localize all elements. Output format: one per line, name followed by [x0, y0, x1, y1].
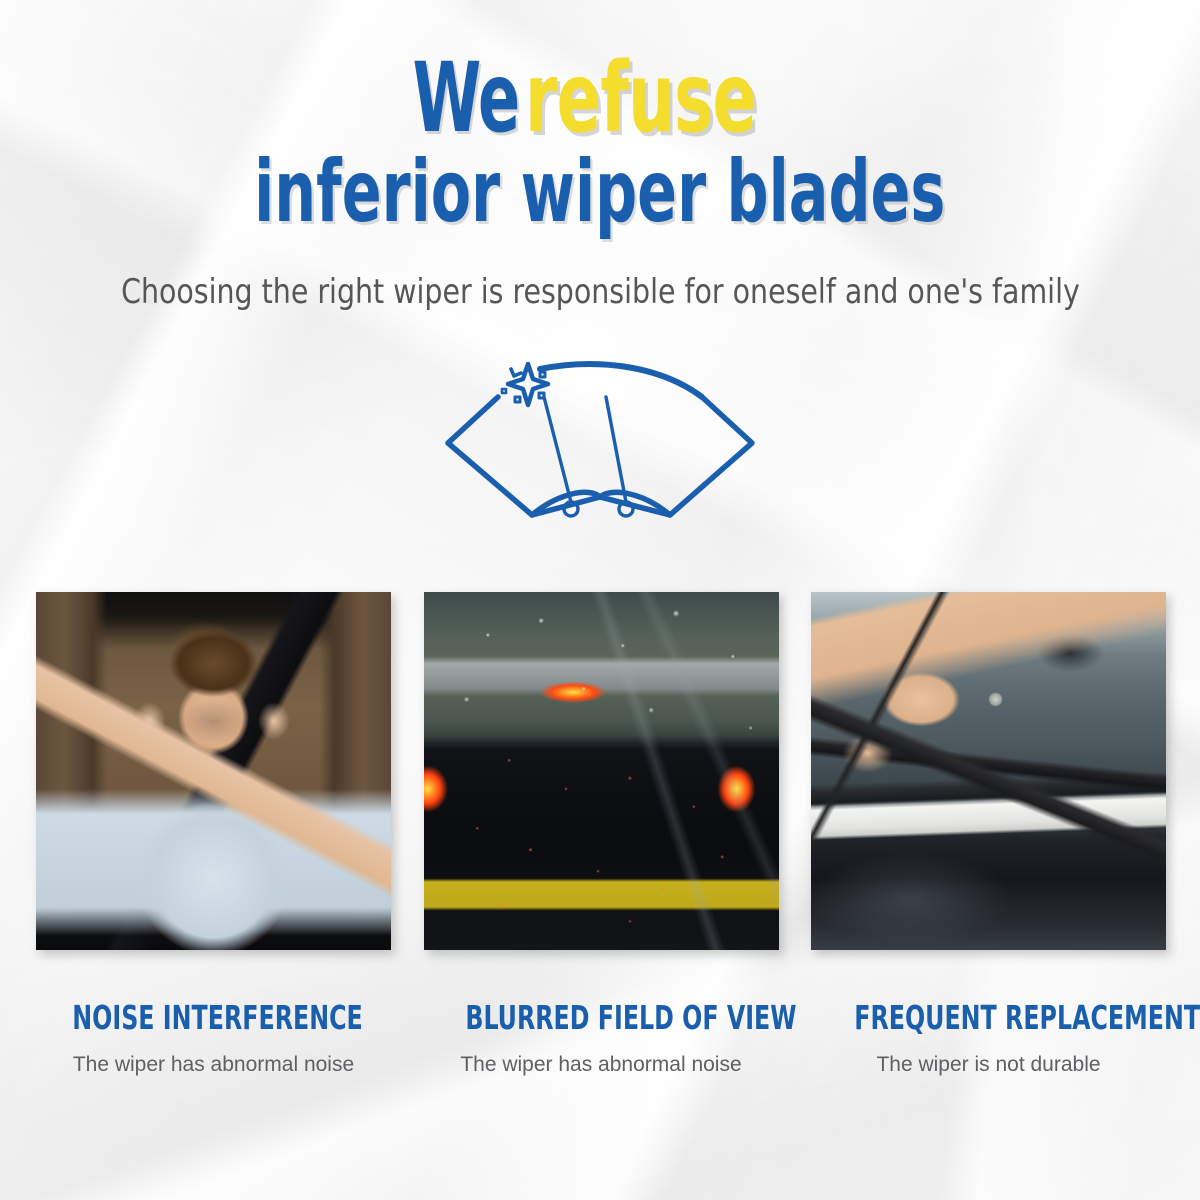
photo-blurred-field-of-view [424, 592, 779, 950]
caption-sub-noise: The wiper has abnormal noise [36, 1053, 391, 1077]
caption-sub-replacement: The wiper is not durable [811, 1053, 1166, 1077]
photo-frequent-replacement [811, 592, 1166, 950]
feature-card-replacement: FREQUENT REPLACEMENT The wiper is not du… [811, 592, 1166, 1077]
headline-refuse: refuse [525, 52, 756, 145]
promo-banner-page: Werefuse inferior wiper blades Choosing … [0, 0, 1200, 1200]
feature-cards-row: NOISE INTERFERENCE The wiper has abnorma… [36, 592, 1166, 1077]
caption-sub-blurred: The wiper has abnormal noise [424, 1053, 779, 1077]
photo-frequent-replacement-image [811, 592, 1166, 950]
caption-title-blurred-text: BLURRED FIELD OF VIEW [465, 998, 796, 1037]
photo-noise-interference-image [36, 592, 391, 950]
feature-card-blurred: BLURRED FIELD OF VIEW The wiper has abno… [424, 592, 779, 1077]
feature-card-noise: NOISE INTERFERENCE The wiper has abnorma… [36, 592, 391, 1077]
headline-line-2: inferior wiper blades [0, 151, 1200, 234]
caption-title-blurred: BLURRED FIELD OF VIEW [424, 998, 779, 1037]
photo-blurred-field-of-view-image [424, 592, 779, 950]
page-subtitle-text: Choosing the right wiper is responsible … [121, 272, 1080, 312]
page-title: Werefuse inferior wiper blades [0, 52, 1200, 235]
photo-noise-interference [36, 592, 391, 950]
page-subtitle: Choosing the right wiper is responsible … [0, 272, 1200, 312]
headline-line-2-text: inferior wiper blades [254, 151, 945, 234]
headline-we: We [412, 52, 519, 145]
headline-line-1: Werefuse [0, 52, 1200, 145]
caption-title-noise: NOISE INTERFERENCE [36, 998, 391, 1037]
caption-title-replacement: FREQUENT REPLACEMENT [811, 998, 1166, 1037]
windshield-wiper-icon [440, 345, 760, 540]
caption-title-replacement-text: FREQUENT REPLACEMENT [854, 998, 1200, 1037]
caption-title-noise-text: NOISE INTERFERENCE [72, 998, 362, 1037]
